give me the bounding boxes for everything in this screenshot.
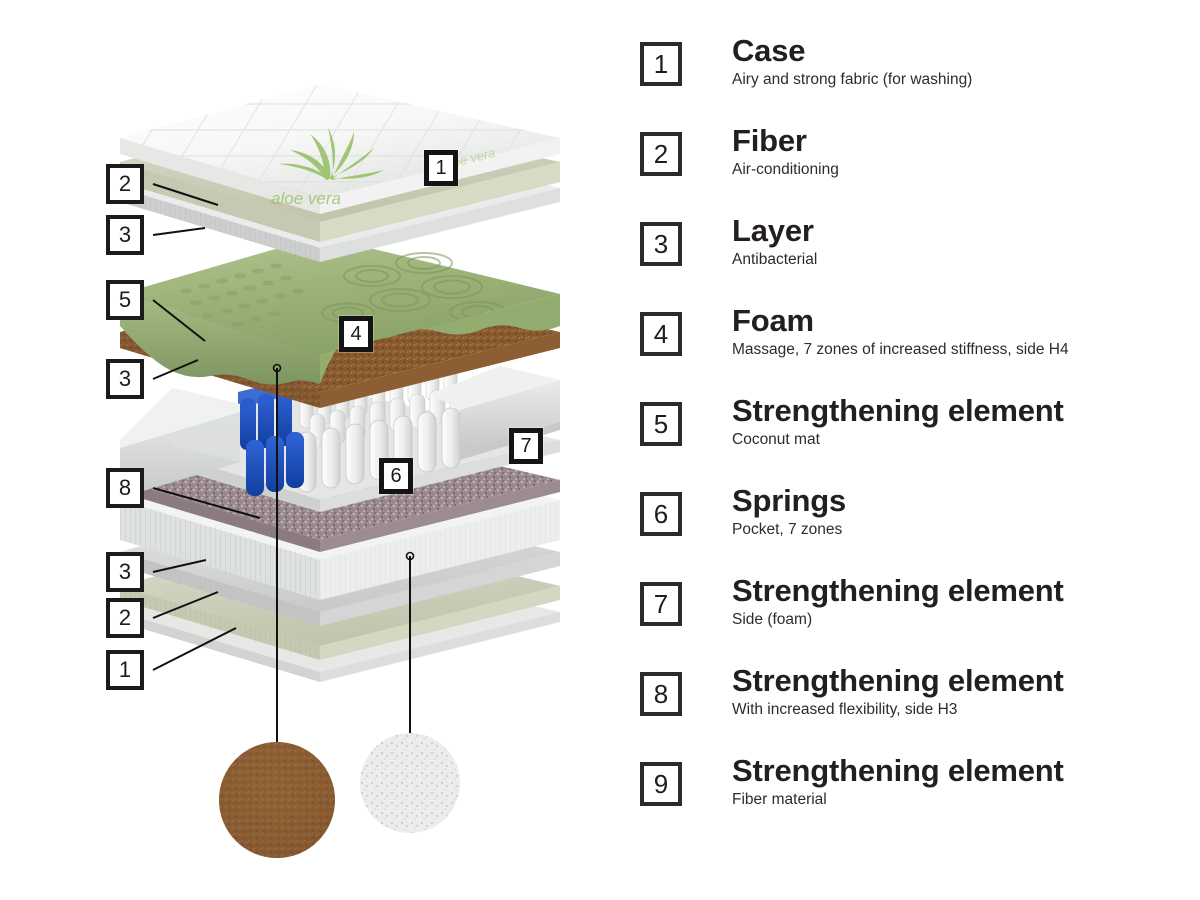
- callout-left-1-case-bottom[interactable]: 1: [106, 650, 144, 690]
- legend-text-2: Fiber Air-conditioning: [732, 124, 1182, 180]
- callout-left-3-layer-mid[interactable]: 3: [106, 359, 144, 399]
- callout-left-2-fiber[interactable]: 2: [106, 164, 144, 204]
- legend-number-1: 1: [640, 42, 682, 86]
- legend-text-3: Layer Antibacterial: [732, 214, 1182, 270]
- callout-inner-4-foam[interactable]: 4: [339, 316, 373, 352]
- legend-sub-1: Airy and strong fabric (for washing): [732, 71, 1182, 90]
- diagram-svg: aloe vera aloe vera: [0, 0, 640, 900]
- legend-sub-3: Antibacterial: [732, 251, 1182, 270]
- legend-text-6: Springs Pocket, 7 zones: [732, 484, 1182, 540]
- legend-list: 1 Case Airy and strong fabric (for washi…: [640, 34, 1180, 844]
- legend-sub-6: Pocket, 7 zones: [732, 521, 1182, 540]
- legend-title-4: Foam: [732, 304, 1182, 337]
- legend-text-8: Strengthening element With increased fle…: [732, 664, 1182, 720]
- legend-number-4: 4: [640, 312, 682, 356]
- legend-number-8: 8: [640, 672, 682, 716]
- legend-item-4[interactable]: 4 Foam Massage, 7 zones of increased sti…: [640, 304, 1180, 394]
- legend-text-9: Strengthening element Fiber material: [732, 754, 1182, 810]
- legend-item-7[interactable]: 7 Strengthening element Side (foam): [640, 574, 1180, 664]
- legend-number-5: 5: [640, 402, 682, 446]
- legend-sub-7: Side (foam): [732, 611, 1182, 630]
- legend-title-2: Fiber: [732, 124, 1182, 157]
- legend-title-9: Strengthening element: [732, 754, 1182, 787]
- legend-number-9: 9: [640, 762, 682, 806]
- legend-item-1[interactable]: 1 Case Airy and strong fabric (for washi…: [640, 34, 1180, 124]
- callout-left-3-layer[interactable]: 3: [106, 215, 144, 255]
- white-foam-swatch: [360, 733, 460, 833]
- legend-sub-2: Air-conditioning: [732, 161, 1182, 180]
- legend-number-6: 6: [640, 492, 682, 536]
- callout-inner-7-side-frame[interactable]: 7: [509, 428, 543, 464]
- legend-text-5: Strengthening element Coconut mat: [732, 394, 1182, 450]
- legend-item-3[interactable]: 3 Layer Antibacterial: [640, 214, 1180, 304]
- mattress-layers-infographic: aloe vera aloe vera: [0, 0, 1200, 900]
- legend-title-1: Case: [732, 34, 1182, 67]
- legend-number-3: 3: [640, 222, 682, 266]
- legend-item-5[interactable]: 5 Strengthening element Coconut mat: [640, 394, 1180, 484]
- legend-item-8[interactable]: 8 Strengthening element With increased f…: [640, 664, 1180, 754]
- legend-text-7: Strengthening element Side (foam): [732, 574, 1182, 630]
- callout-left-8-felt[interactable]: 8: [106, 468, 144, 508]
- legend-title-7: Strengthening element: [732, 574, 1182, 607]
- legend-number-7: 7: [640, 582, 682, 626]
- callout-inner-6-springs[interactable]: 6: [379, 458, 413, 494]
- aloe-vera-label: aloe vera: [271, 189, 341, 208]
- callout-left-5-coconut[interactable]: 5: [106, 280, 144, 320]
- legend-sub-5: Coconut mat: [732, 431, 1182, 450]
- legend-sub-4: Massage, 7 zones of increased stiffness,…: [732, 341, 1182, 360]
- callout-left-2-fiber-bottom[interactable]: 2: [106, 598, 144, 638]
- legend-number-2: 2: [640, 132, 682, 176]
- legend-sub-9: Fiber material: [732, 791, 1182, 810]
- legend-item-9[interactable]: 9 Strengthening element Fiber material: [640, 754, 1180, 844]
- callout-inner-1-case[interactable]: 1: [424, 150, 458, 186]
- callout-left-3-layer-bottom[interactable]: 3: [106, 552, 144, 592]
- legend-item-2[interactable]: 2 Fiber Air-conditioning: [640, 124, 1180, 214]
- legend-title-5: Strengthening element: [732, 394, 1182, 427]
- legend-text-1: Case Airy and strong fabric (for washing…: [732, 34, 1182, 90]
- legend-item-6[interactable]: 6 Springs Pocket, 7 zones: [640, 484, 1180, 574]
- exploded-mattress-diagram: aloe vera aloe vera: [0, 0, 640, 900]
- legend-title-3: Layer: [732, 214, 1182, 247]
- legend-title-8: Strengthening element: [732, 664, 1182, 697]
- legend-sub-8: With increased flexibility, side H3: [732, 701, 1182, 720]
- legend-text-4: Foam Massage, 7 zones of increased stiff…: [732, 304, 1182, 360]
- legend-title-6: Springs: [732, 484, 1182, 517]
